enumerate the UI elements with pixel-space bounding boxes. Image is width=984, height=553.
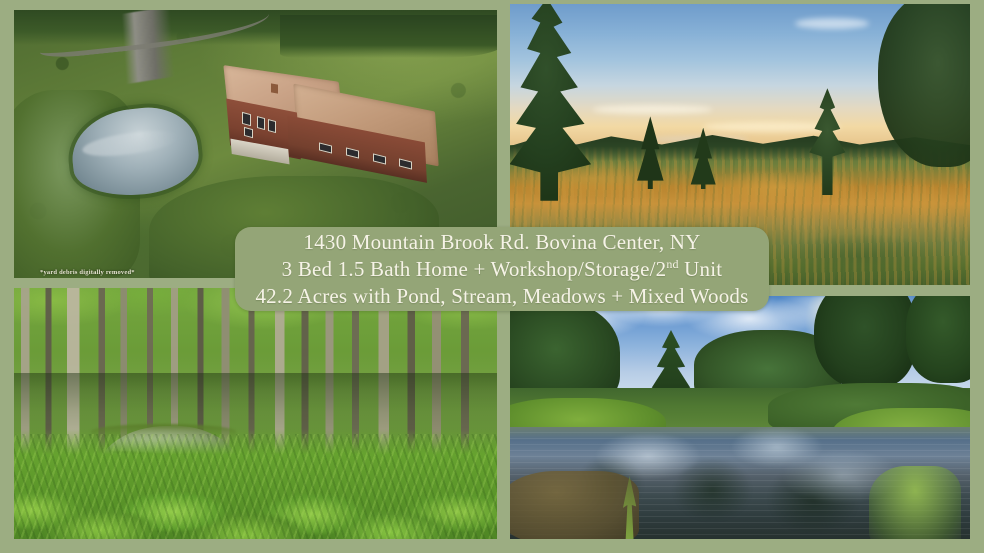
window-shape: [257, 116, 265, 130]
caption-line2-suffix: Unit: [679, 257, 723, 281]
ordinal-superscript: nd: [666, 257, 678, 271]
house-structure: [222, 69, 444, 203]
caption-line-address: 1430 Mountain Brook Rd. Bovina Center, N…: [304, 229, 701, 255]
listing-caption-box: 1430 Mountain Brook Rd. Bovina Center, N…: [235, 227, 769, 311]
caption-line-acreage: 42.2 Acres with Pond, Stream, Meadows + …: [255, 283, 748, 309]
digital-edit-disclaimer: *yard debris digitally removed*: [40, 269, 135, 276]
evergreen-tree-shape: [814, 296, 915, 388]
caption-line-beds-baths: 3 Bed 1.5 Bath Home + Workshop/Storage/2…: [282, 256, 723, 282]
window-shape: [268, 119, 276, 133]
shallow-bank-shape: [510, 471, 639, 539]
fern-frond-texture: [14, 434, 497, 539]
caption-line2-prefix: 3 Bed 1.5 Bath Home + Workshop/Storage/2: [282, 257, 667, 281]
chimney-shape: [271, 83, 278, 94]
evergreen-tree-shape: [906, 296, 970, 383]
property-photo-collage: *yard debris digitally removed*: [0, 0, 984, 553]
foreground-weed-shape: [869, 466, 961, 539]
window-shape: [242, 112, 251, 126]
pond-stream-reflection-photo[interactable]: [510, 296, 970, 539]
window-shape: [244, 127, 253, 139]
fern-forest-boulder-photo[interactable]: [14, 288, 497, 539]
cloud-shape: [593, 105, 713, 113]
